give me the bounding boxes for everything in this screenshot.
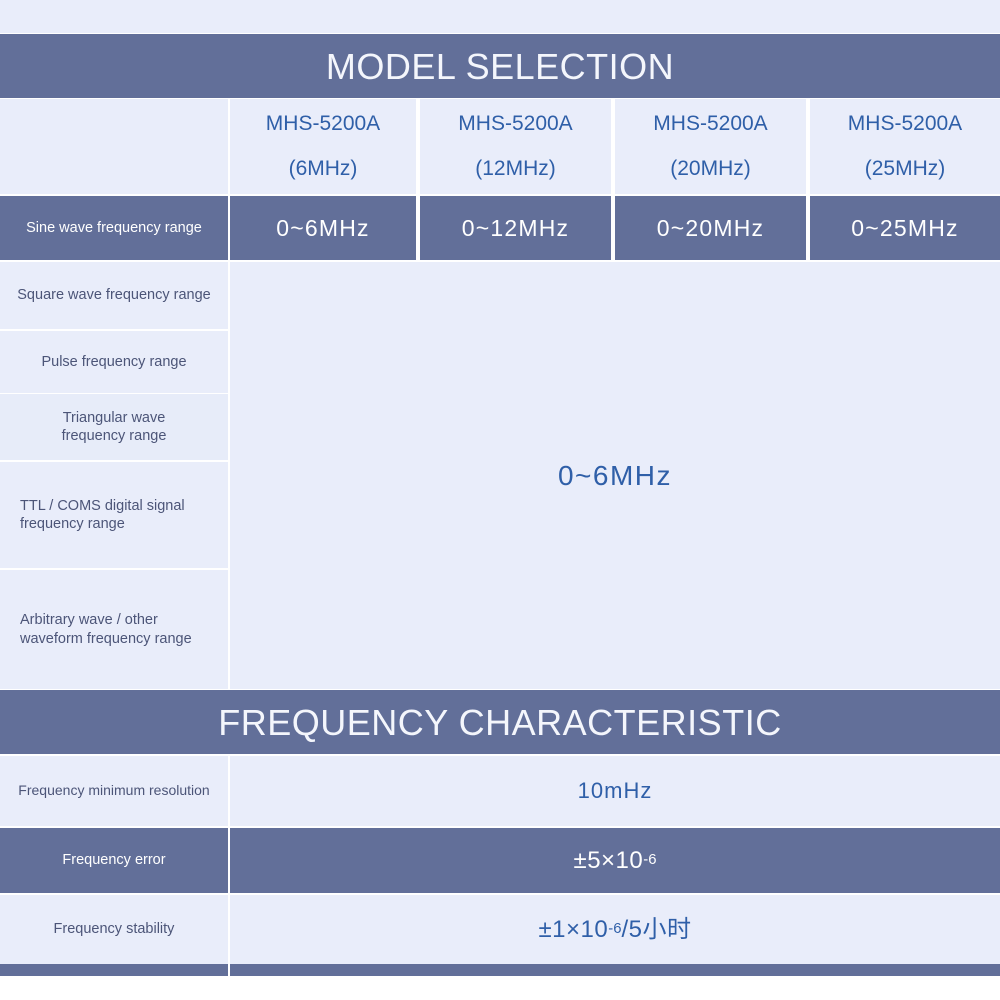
model-freq-3: (20MHz) <box>670 156 751 182</box>
value-freq-stability: ±1×10-6/5小时 <box>230 895 1000 964</box>
row-label-triangular-line2: frequency range <box>62 427 167 445</box>
bottom-trim-bar <box>0 964 1000 976</box>
value-sine-20mhz: 0~20MHz <box>615 196 806 260</box>
row-label-triangular-line1: Triangular wave <box>63 409 166 427</box>
merged-value-all-waveforms: 0~6MHz <box>230 262 1000 689</box>
value-freq-stability-exponent: -6 <box>608 920 621 939</box>
value-freq-min-resolution: 10mHz <box>230 756 1000 826</box>
bottom-white-strip <box>0 976 1000 1000</box>
model-column-header-4: MHS-5200A (25MHz) <box>810 99 1000 194</box>
row-label-square-wave: Square wave frequency range <box>0 262 228 329</box>
row-label-ttl-coms: TTL / COMS digital signal frequency rang… <box>0 462 228 568</box>
bottom-trim-seam <box>228 964 230 976</box>
value-freq-error-exponent: -6 <box>643 851 656 870</box>
model-column-header-1: MHS-5200A (6MHz) <box>230 99 416 194</box>
value-freq-error: ±5×10-6 <box>230 828 1000 893</box>
row-label-freq-min-resolution: Frequency minimum resolution <box>0 756 228 826</box>
row-label-pulse: Pulse frequency range <box>0 331 228 393</box>
model-name-3: MHS-5200A <box>653 111 767 137</box>
banner-frequency-characteristic: FREQUENCY CHARACTERISTIC <box>0 690 1000 754</box>
model-freq-2: (12MHz) <box>475 156 556 182</box>
value-freq-stability-base: ±1×10 <box>539 915 609 945</box>
row-label-ttl-line1: TTL / COMS digital signal <box>20 497 185 515</box>
row-label-triangular-wave: Triangular wave frequency range <box>0 394 228 460</box>
row-label-freq-error: Frequency error <box>0 828 228 893</box>
row-label-freq-stability: Frequency stability <box>0 895 228 964</box>
spec-sheet: MODEL SELECTION MHS-5200A (6MHz) MHS-520… <box>0 0 1000 1000</box>
value-sine-25mhz: 0~25MHz <box>810 196 1000 260</box>
row-label-arbitrary-wave: Arbitrary wave / other waveform frequenc… <box>0 570 228 689</box>
model-column-header-3: MHS-5200A (20MHz) <box>615 99 806 194</box>
row-label-arbitrary-line1: Arbitrary wave / other <box>20 611 158 629</box>
model-column-header-2: MHS-5200A (12MHz) <box>420 99 611 194</box>
row-label-sine-wave: Sine wave frequency range <box>0 196 228 260</box>
model-name-1: MHS-5200A <box>266 111 380 137</box>
model-name-4: MHS-5200A <box>848 111 962 137</box>
top-trim-strip <box>0 0 1000 33</box>
model-freq-4: (25MHz) <box>865 156 946 182</box>
row-label-arbitrary-line2: waveform frequency range <box>20 630 192 648</box>
value-freq-error-base: ±5×10 <box>574 846 644 876</box>
model-freq-1: (6MHz) <box>289 156 358 182</box>
value-freq-stability-suffix: /5小时 <box>621 915 691 945</box>
value-sine-6mhz: 0~6MHz <box>230 196 416 260</box>
model-header-corner-cell <box>0 99 228 194</box>
model-name-2: MHS-5200A <box>458 111 572 137</box>
value-sine-12mhz: 0~12MHz <box>420 196 611 260</box>
banner-model-selection: MODEL SELECTION <box>0 34 1000 98</box>
row-label-ttl-line2: frequency range <box>20 515 125 533</box>
